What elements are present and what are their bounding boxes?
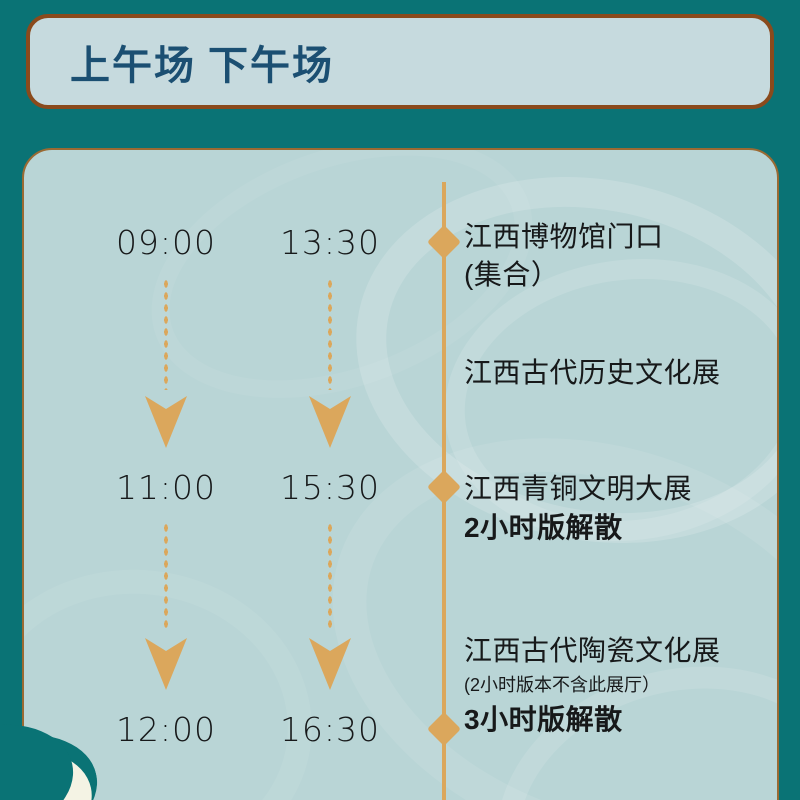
connector-dots: [327, 278, 333, 390]
connector-arrow-pm-2: [326, 522, 334, 632]
connector-arrow-am-1: [162, 278, 170, 390]
connector-arrow-am-2: [162, 522, 170, 632]
event-item-3: 江西青铜文明大展 2小时版解散: [464, 470, 779, 548]
event-dismiss-note: 2小时版解散: [464, 508, 779, 548]
event-title: 江西古代陶瓷文化展: [464, 632, 779, 670]
event-title: 江西博物馆门口: [464, 218, 779, 256]
schedule-panel: 09:00 11:00 12:00 13:30 15:30 16:30 江西博物…: [22, 148, 779, 800]
schedule-poster: 上午场 下午场: [0, 0, 800, 800]
event-title: 江西青铜文明大展: [464, 470, 779, 508]
diamond-marker-icon-2: [427, 470, 461, 504]
time-label-am-1: 09:00: [86, 223, 246, 262]
diamond-marker-icon-3: [427, 712, 461, 746]
event-note: (2小时版本不含此展厅）: [464, 670, 779, 700]
connector-arrow-pm-1: [326, 278, 334, 390]
time-label-pm-1: 13:30: [250, 223, 410, 262]
connector-dots: [163, 278, 169, 390]
event-subtitle: (集合）: [464, 256, 779, 294]
event-title: 江西古代历史文化展: [464, 354, 779, 392]
event-dismiss-note: 3小时版解散: [464, 700, 779, 740]
event-item-4: 江西古代陶瓷文化展 (2小时版本不含此展厅） 3小时版解散: [464, 632, 779, 740]
diamond-marker-icon-1: [427, 225, 461, 259]
connector-dots: [327, 522, 333, 632]
event-item-2: 江西古代历史文化展: [464, 354, 779, 392]
time-label-am-3: 12:00: [86, 710, 246, 749]
time-label-pm-3: 16:30: [250, 710, 410, 749]
connector-dots: [163, 522, 169, 632]
time-label-pm-2: 15:30: [250, 468, 410, 507]
header-panel: 上午场 下午场: [26, 14, 774, 109]
time-label-am-2: 11:00: [86, 468, 246, 507]
event-item-1: 江西博物馆门口 (集合）: [464, 218, 779, 294]
page-title: 上午场 下午场: [70, 33, 334, 91]
